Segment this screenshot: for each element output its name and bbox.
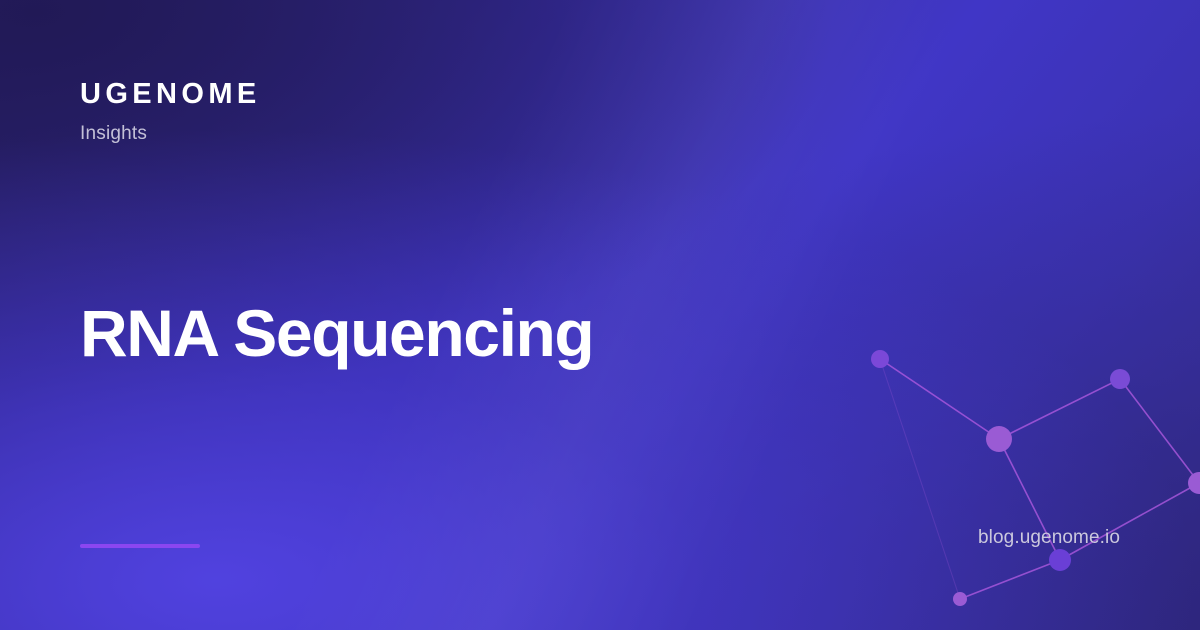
page-title: RNA Sequencing	[80, 297, 840, 371]
site-url: blog.ugenome.io	[978, 528, 1120, 547]
accent-underline	[80, 544, 200, 548]
brand-name: UGENOME	[80, 80, 261, 109]
brand-block: UGENOME Insights	[80, 80, 261, 143]
social-share-card: UGENOME Insights RNA Sequencing blog.uge…	[0, 0, 1200, 630]
brand-subtitle: Insights	[80, 124, 261, 143]
